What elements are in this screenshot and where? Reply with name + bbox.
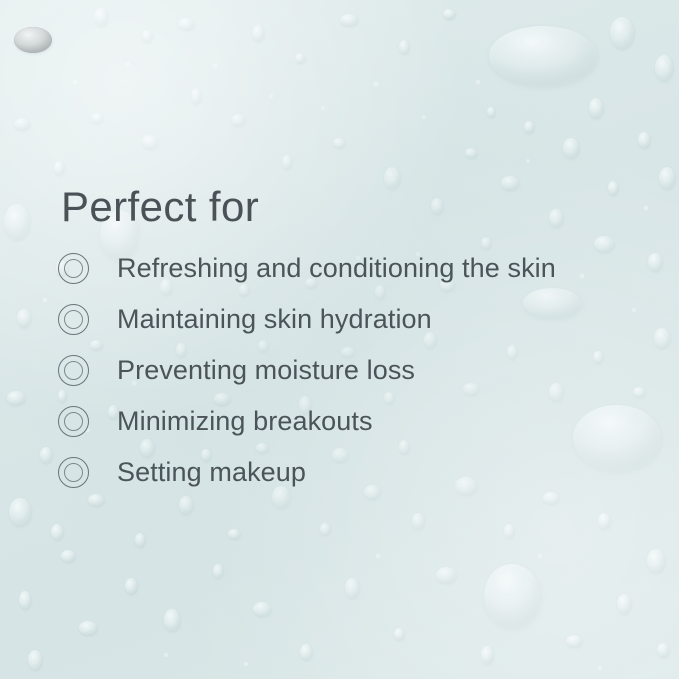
list-item-label: Refreshing and conditioning the skin	[117, 255, 556, 282]
double-circle-icon	[57, 303, 90, 336]
list-item-label: Maintaining skin hydration	[117, 306, 432, 333]
list-item-label: Minimizing breakouts	[117, 408, 373, 435]
product-benefits-graphic: Perfect for Refreshing and conditioning …	[0, 0, 679, 679]
list-item-label: Setting makeup	[117, 459, 306, 486]
content-layer: Perfect for Refreshing and conditioning …	[0, 0, 679, 679]
list-item: Preventing moisture loss	[57, 345, 556, 396]
double-circle-icon	[57, 252, 90, 285]
list-item: Minimizing breakouts	[57, 396, 556, 447]
double-circle-icon	[57, 456, 90, 489]
page-title: Perfect for	[61, 183, 259, 231]
double-circle-icon	[57, 405, 90, 438]
list-item: Setting makeup	[57, 447, 556, 498]
double-circle-icon	[57, 354, 90, 387]
list-item: Maintaining skin hydration	[57, 294, 556, 345]
benefit-list: Refreshing and conditioning the skin Mai…	[57, 243, 556, 498]
list-item-label: Preventing moisture loss	[117, 357, 415, 384]
list-item: Refreshing and conditioning the skin	[57, 243, 556, 294]
